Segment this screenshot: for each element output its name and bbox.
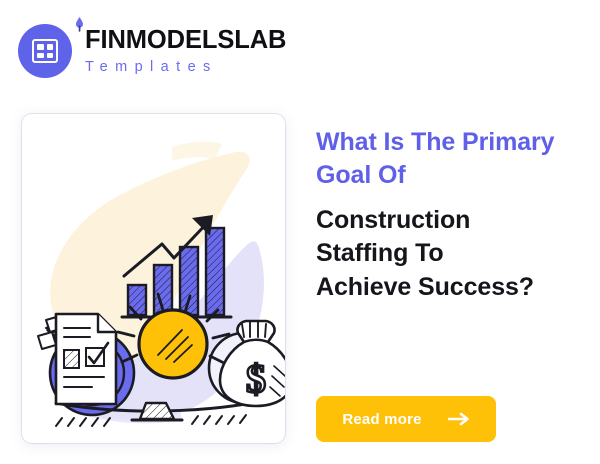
headline-accent-line-2: Goal Of <box>316 161 406 189</box>
page-title-main: Construction Staffing To Achieve Success… <box>316 204 588 304</box>
page-title-accent: What Is The Primary Goal Of <box>316 126 588 192</box>
brand-text: FINMODELSLAB Templates <box>85 28 286 74</box>
document-checklist-icon <box>56 314 116 404</box>
brand-tagline: Templates <box>85 60 286 75</box>
brand-name: FINMODELSLAB <box>85 28 286 54</box>
brand-header: FINMODELSLAB Templates <box>18 24 286 78</box>
arrow-right-icon <box>448 412 470 426</box>
illustration-canvas: $ <box>22 114 285 443</box>
grid-icon <box>32 39 58 63</box>
headline-block: What Is The Primary Goal Of Construction… <box>316 126 588 304</box>
headline-main-line-2: Staffing To <box>316 237 588 270</box>
headline-main-line-1: Construction <box>316 204 588 237</box>
brand-logo-mark <box>18 24 72 78</box>
read-more-button[interactable]: Read more <box>316 396 496 442</box>
svg-text:$: $ <box>246 356 266 401</box>
headline-main-line-3: Achieve Success? <box>316 271 588 304</box>
headline-accent-line-1: What Is The Primary <box>316 128 554 156</box>
read-more-label: Read more <box>342 411 421 428</box>
illustration-card: $ <box>22 114 285 443</box>
droplet-pin-icon <box>75 17 84 32</box>
